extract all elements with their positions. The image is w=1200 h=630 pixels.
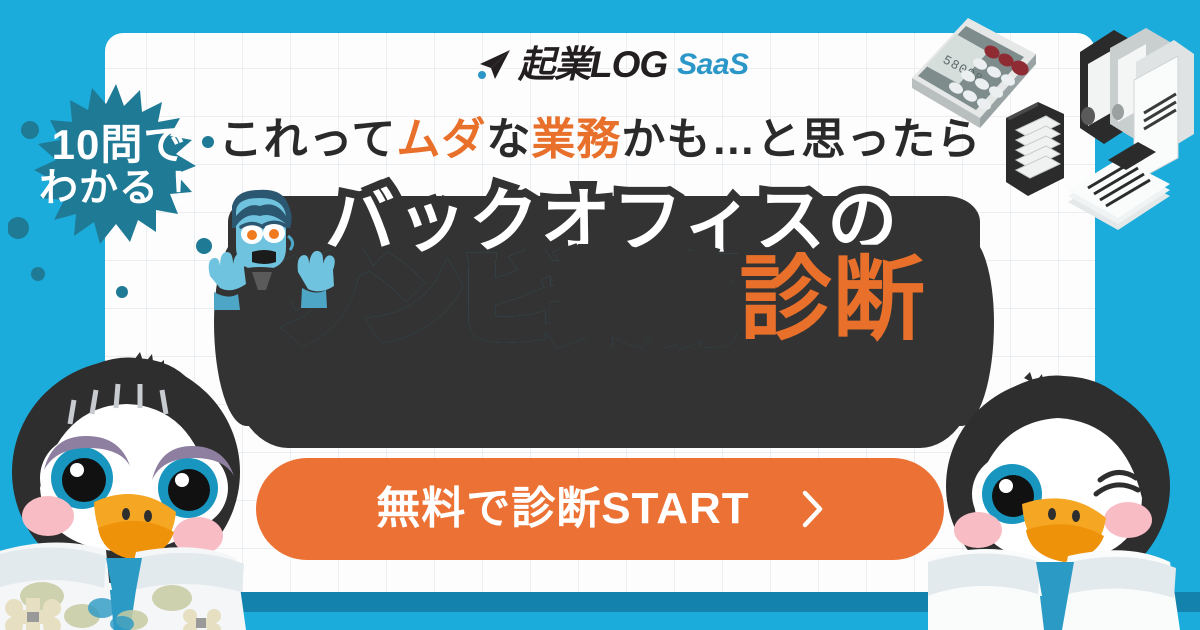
brand-logo[interactable]: 起業LOG SaaS [477, 46, 749, 83]
badge-line-1: 10問で [52, 121, 187, 168]
paper-plane-icon [477, 49, 511, 81]
office-props-group: 58008 [888, 10, 1200, 245]
subtitle-highlight1: ムダ [396, 115, 486, 164]
logo-product-text: SaaS [677, 50, 748, 80]
badge-line-2: わかる！ [8, 168, 230, 211]
start-diagnosis-button[interactable]: 無料で診断START [256, 458, 944, 560]
file-folder-icon [1006, 102, 1064, 196]
subtitle-highlight2: 業務 [531, 115, 621, 164]
headline-zombie-word: ゾンビ業務 [274, 249, 739, 351]
bone-badge [5, 598, 61, 630]
cta-label: 無料で診断START [376, 487, 749, 531]
badge-text: 10問で わかる！ [8, 122, 230, 211]
headline-diagnosis-word: 診断 [740, 249, 926, 351]
winking-penguin-icon [928, 372, 1200, 630]
logo-brand-text: 起業LOG [518, 46, 667, 83]
chevron-right-icon [802, 490, 824, 528]
subtitle-part2: な [486, 115, 531, 164]
calculator-icon: 58008 [912, 18, 1036, 128]
question-count-badge: 10問で わかる！ [8, 78, 230, 300]
subtitle-part1: これって [219, 115, 397, 164]
zombie-penguin-icon [0, 352, 286, 630]
banner-canvas: 58008 [0, 0, 1200, 630]
